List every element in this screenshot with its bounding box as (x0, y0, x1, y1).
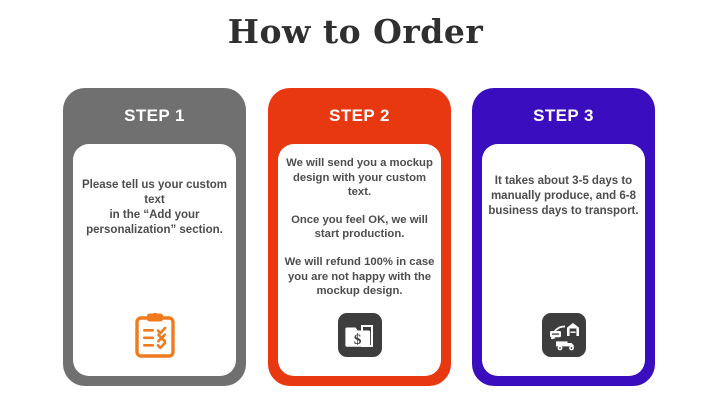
step-card-1-body: Please tell us your custom text in the “… (73, 144, 236, 376)
step-card-1-paragraph: Please tell us your custom text in the “… (79, 178, 230, 238)
steps-container: STEP 1 Please tell us your custom text i… (0, 88, 711, 388)
step-card-2-text: We will send you a mockup design with yo… (284, 156, 435, 299)
folder-dollar-icon: $ (337, 312, 383, 358)
step-card-2-paragraph-3: We will refund 100% in case you are not … (284, 255, 435, 299)
step-card-3-body: It takes about 3-5 days to manually prod… (482, 144, 645, 376)
step-card-2-paragraph-1: We will send you a mockup design with yo… (284, 156, 435, 200)
step-card-2: STEP 2 We will send you a mockup design … (268, 88, 451, 386)
step-card-1-header: STEP 1 (63, 88, 246, 144)
step-card-3: STEP 3 It takes about 3-5 days to manual… (472, 88, 655, 386)
clipboard-checklist-icon (132, 312, 178, 358)
step-card-3-paragraph: It takes about 3-5 days to manually prod… (488, 174, 639, 219)
page-title: How to Order (0, 12, 711, 52)
step-card-2-body: We will send you a mockup design with yo… (278, 144, 441, 376)
step-card-2-header: STEP 2 (268, 88, 451, 144)
delivery-truck-icon (541, 312, 587, 358)
step-card-2-paragraph-2: Once you feel OK, we will start producti… (284, 213, 435, 242)
step-card-3-text: It takes about 3-5 days to manually prod… (488, 174, 639, 219)
step-card-1-text: Please tell us your custom text in the “… (79, 178, 230, 238)
svg-text:$: $ (353, 332, 361, 348)
step-card-1: STEP 1 Please tell us your custom text i… (63, 88, 246, 386)
step-card-3-header: STEP 3 (472, 88, 655, 144)
